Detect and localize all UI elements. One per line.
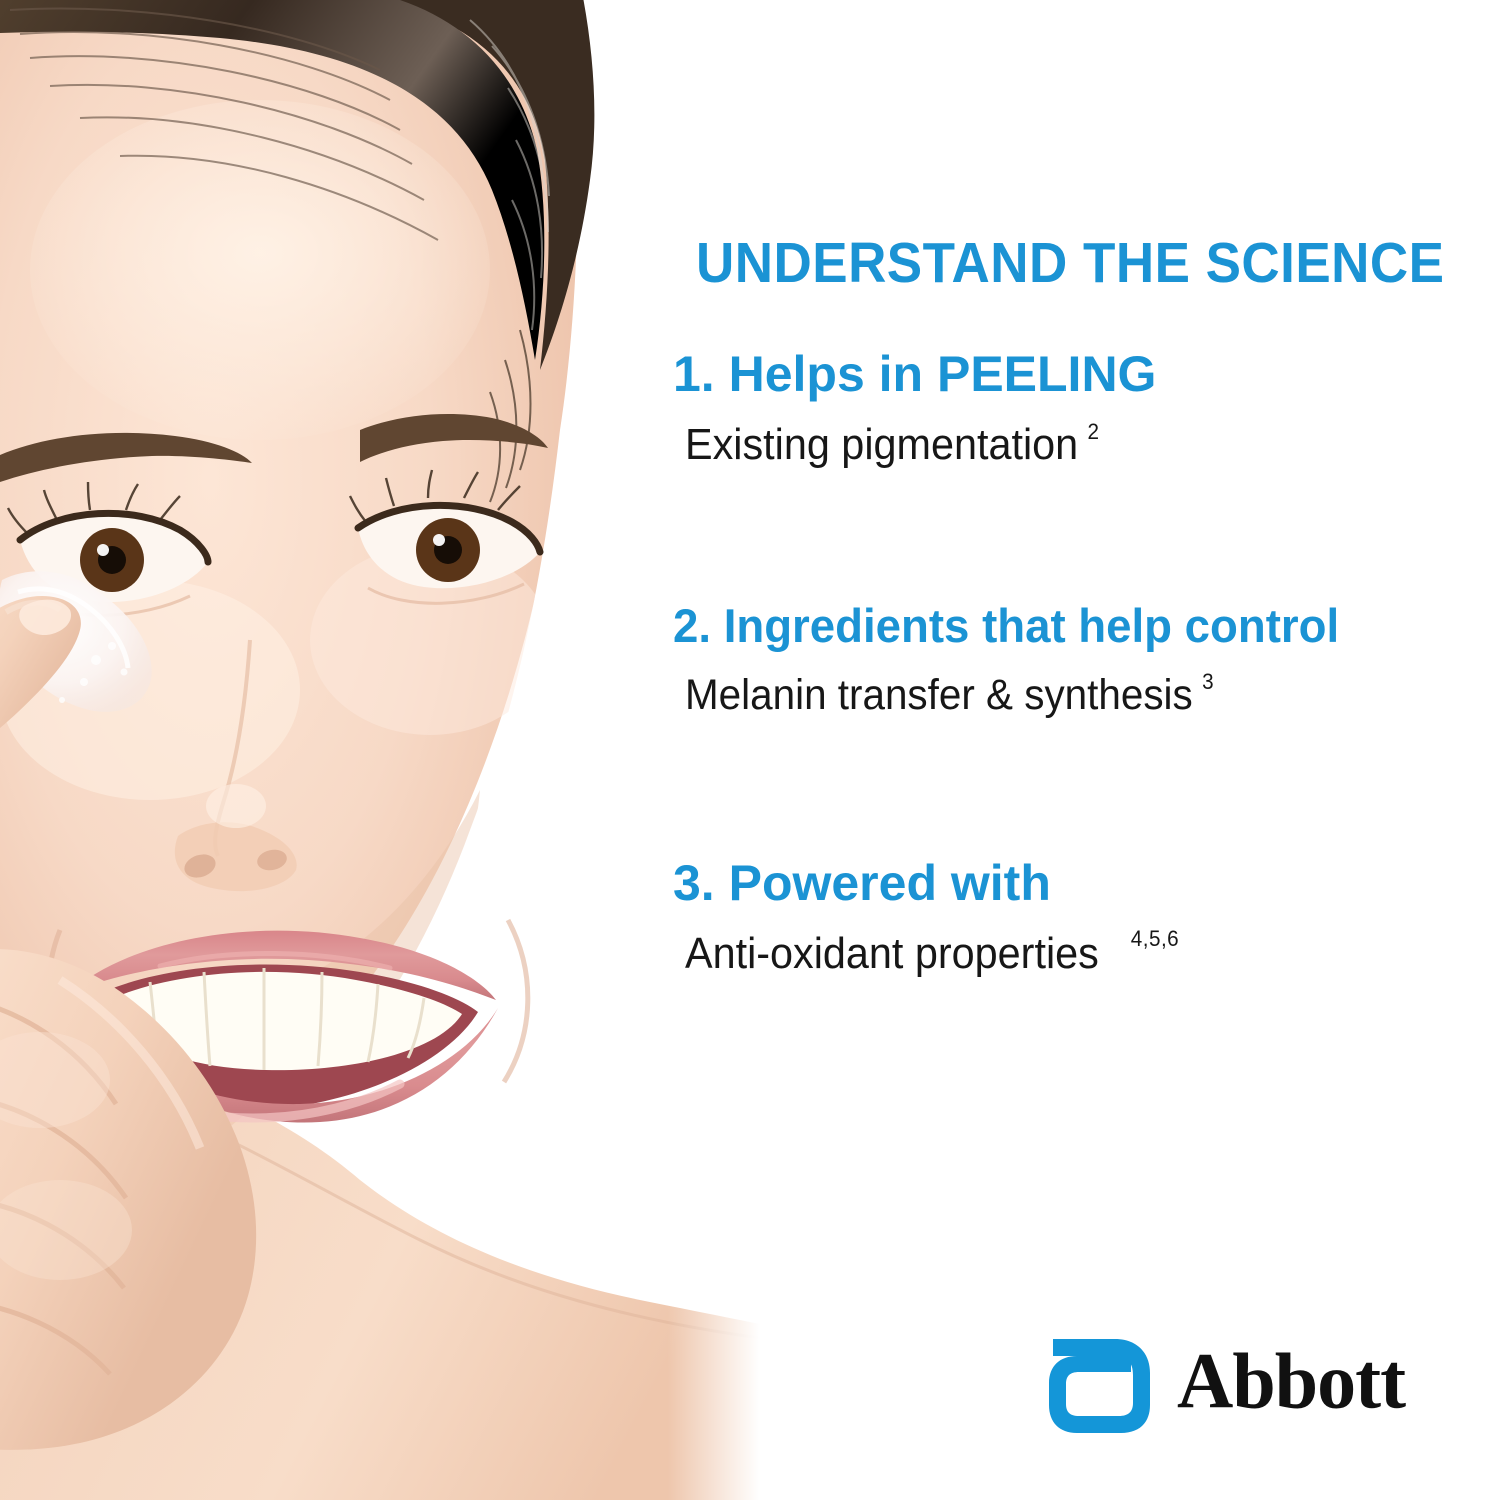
- science-point-3-body: Anti-oxidant properties4,5,6: [685, 929, 1451, 980]
- science-point-3: 3. Powered with Anti-oxidant properties4…: [660, 855, 1500, 980]
- science-point-1-body: Existing pigmentation2: [685, 420, 1451, 471]
- science-point-2-citation: 3: [1202, 669, 1214, 694]
- page-title: UNDERSTAND THE SCIENCE: [696, 234, 1440, 294]
- science-point-3-body-text: Anti-oxidant properties: [685, 929, 1099, 978]
- science-point-1-heading: 1. Helps in PEELING: [673, 346, 1500, 402]
- science-point-3-citation: 4,5,6: [1131, 926, 1179, 951]
- science-point-2-heading: 2. Ingredients that help control: [673, 600, 1475, 653]
- abbott-wordmark: Abbott: [1177, 1341, 1405, 1421]
- abbott-a-symbol: [1047, 1325, 1155, 1437]
- advertisement-canvas: UNDERSTAND THE SCIENCE 1. Helps in PEELI…: [0, 0, 1500, 1500]
- science-point-3-heading: 3. Powered with: [673, 855, 1500, 911]
- science-point-2-body-text: Melanin transfer & synthesis: [685, 671, 1193, 719]
- science-point-2: 2. Ingredients that help control Melanin…: [660, 600, 1500, 720]
- science-content-panel: UNDERSTAND THE SCIENCE 1. Helps in PEELI…: [660, 0, 1500, 1500]
- science-point-1: 1. Helps in PEELING Existing pigmentatio…: [660, 346, 1500, 471]
- science-point-1-citation: 2: [1088, 419, 1100, 444]
- science-point-2-body: Melanin transfer & synthesis3: [685, 671, 1451, 720]
- model-photo: [0, 0, 760, 1500]
- abbott-logo: Abbott: [1047, 1325, 1405, 1437]
- science-point-1-body-text: Existing pigmentation: [685, 420, 1078, 469]
